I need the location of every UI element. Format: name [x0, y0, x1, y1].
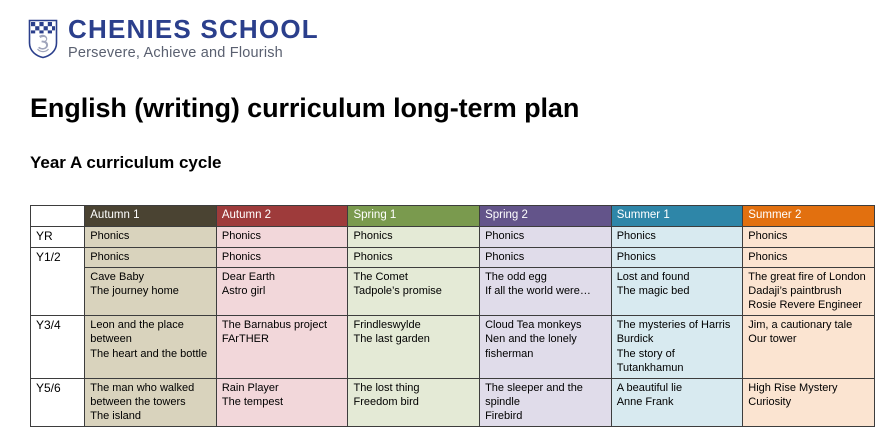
book-title: Anne Frank	[617, 395, 739, 409]
phonics-cell: Phonics	[743, 248, 875, 268]
term-header-2: Autumn 2	[216, 206, 348, 227]
table-header-row: Autumn 1Autumn 2Spring 1Spring 2Summer 1…	[31, 206, 875, 227]
book-title: The story of Tutankhamun	[617, 347, 739, 375]
text-titles-cell: The mysteries of Harris BurdickThe story…	[611, 316, 743, 378]
phonics-cell: Phonics	[85, 226, 217, 247]
text-titles-cell: High Rise MysteryCuriosity	[743, 378, 875, 426]
term-header-5: Summer 1	[611, 206, 743, 227]
text-titles-cell: The Barnabus projectFArTHER	[216, 316, 348, 378]
book-title: The Barnabus project	[222, 318, 344, 332]
phonics-cell: Phonics	[480, 226, 612, 247]
book-title: Curiosity	[748, 395, 870, 409]
book-title: The mysteries of Harris Burdick	[617, 318, 739, 346]
book-title: The Comet	[353, 270, 475, 284]
table-row: Cave BabyThe journey homeDear EarthAstro…	[31, 268, 875, 316]
text-titles-cell: Dear EarthAstro girl	[216, 268, 348, 316]
phonics-cell: Phonics	[480, 248, 612, 268]
text-titles-cell: Leon and the place betweenThe heart and …	[85, 316, 217, 378]
book-title: The man who walked between the towers	[90, 381, 212, 409]
book-title: Tadpole’s promise	[353, 284, 475, 298]
text-titles-cell: Cave BabyThe journey home	[85, 268, 217, 316]
text-titles-cell: The lost thingFreedom bird	[348, 378, 480, 426]
book-title: Astro girl	[222, 284, 344, 298]
book-title: FArTHER	[222, 332, 344, 346]
table-row: Y1/2PhonicsPhonicsPhonicsPhonicsPhonicsP…	[31, 248, 875, 268]
book-title: High Rise Mystery	[748, 381, 870, 395]
book-title: The magic bed	[617, 284, 739, 298]
book-title: Cave Baby	[90, 270, 212, 284]
book-title: The heart and the bottle	[90, 347, 212, 361]
text-titles-cell: Lost and foundThe magic bed	[611, 268, 743, 316]
book-title: The lost thing	[353, 381, 475, 395]
year-group-label: Y1/2	[31, 248, 85, 316]
book-title: Cloud Tea monkeys	[485, 318, 607, 332]
text-titles-cell: A beautiful lieAnne Frank	[611, 378, 743, 426]
book-title: Dear Earth	[222, 270, 344, 284]
shield-crest-icon	[28, 19, 58, 59]
school-name: CHENIES SCHOOL	[68, 16, 319, 43]
text-titles-cell: The CometTadpole’s promise	[348, 268, 480, 316]
text-titles-cell: Jim, a cautionary taleOur tower	[743, 316, 875, 378]
book-title: Nen and the lonely fisherman	[485, 332, 607, 360]
phonics-cell: Phonics	[216, 226, 348, 247]
text-titles-cell: The great fire of LondonDadaji’s paintbr…	[743, 268, 875, 316]
phonics-cell: Phonics	[85, 248, 217, 268]
book-title: The odd egg	[485, 270, 607, 284]
school-wordmark: CHENIES SCHOOL Persevere, Achieve and Fl…	[68, 16, 319, 63]
phonics-cell: Phonics	[216, 248, 348, 268]
book-title: Leon and the place between	[90, 318, 212, 346]
book-title: Rosie Revere Engineer	[748, 298, 870, 312]
book-title: Dadaji’s paintbrush	[748, 284, 870, 298]
term-header-1: Autumn 1	[85, 206, 217, 227]
book-title: The great fire of London	[748, 270, 870, 284]
term-header-6: Summer 2	[743, 206, 875, 227]
year-group-label: Y5/6	[31, 378, 85, 426]
book-title: Frindleswylde	[353, 318, 475, 332]
book-title: Freedom bird	[353, 395, 475, 409]
phonics-cell: Phonics	[348, 226, 480, 247]
book-title: A beautiful lie	[617, 381, 739, 395]
term-header-4: Spring 2	[480, 206, 612, 227]
table-body: YRPhonicsPhonicsPhonicsPhonicsPhonicsPho…	[31, 226, 875, 426]
table-row: Y5/6The man who walked between the tower…	[31, 378, 875, 426]
phonics-cell: Phonics	[611, 248, 743, 268]
book-title: Firebird	[485, 409, 607, 423]
year-group-label: YR	[31, 226, 85, 247]
text-titles-cell: The man who walked between the towersThe…	[85, 378, 217, 426]
text-titles-cell: The odd eggIf all the world were…	[480, 268, 612, 316]
phonics-cell: Phonics	[348, 248, 480, 268]
curriculum-long-term-plan-table: Autumn 1Autumn 2Spring 1Spring 2Summer 1…	[30, 205, 875, 427]
book-title: If all the world were…	[485, 284, 607, 298]
school-masthead: CHENIES SCHOOL Persevere, Achieve and Fl…	[28, 16, 319, 63]
page-title: English (writing) curriculum long-term p…	[30, 93, 579, 124]
phonics-cell: Phonics	[611, 226, 743, 247]
book-title: Rain Player	[222, 381, 344, 395]
page-subtitle: Year A curriculum cycle	[30, 153, 222, 173]
table-row: YRPhonicsPhonicsPhonicsPhonicsPhonicsPho…	[31, 226, 875, 247]
table-row: Y3/4Leon and the place betweenThe heart …	[31, 316, 875, 378]
table-header: Autumn 1Autumn 2Spring 1Spring 2Summer 1…	[31, 206, 875, 227]
text-titles-cell: FrindleswyldeThe last garden	[348, 316, 480, 378]
book-title: Lost and found	[617, 270, 739, 284]
text-titles-cell: Rain PlayerThe tempest	[216, 378, 348, 426]
book-title: Jim, a cautionary tale	[748, 318, 870, 332]
text-titles-cell: Cloud Tea monkeysNen and the lonely fish…	[480, 316, 612, 378]
term-header-3: Spring 1	[348, 206, 480, 227]
year-group-label: Y3/4	[31, 316, 85, 378]
book-title: The journey home	[90, 284, 212, 298]
book-title: The tempest	[222, 395, 344, 409]
book-title: Our tower	[748, 332, 870, 346]
book-title: The island	[90, 409, 212, 423]
text-titles-cell: The sleeper and the spindleFirebird	[480, 378, 612, 426]
book-title: The sleeper and the spindle	[485, 381, 607, 409]
phonics-cell: Phonics	[743, 226, 875, 247]
book-title: The last garden	[353, 332, 475, 346]
school-motto: Persevere, Achieve and Flourish	[68, 45, 319, 62]
table-corner-cell	[31, 206, 85, 227]
